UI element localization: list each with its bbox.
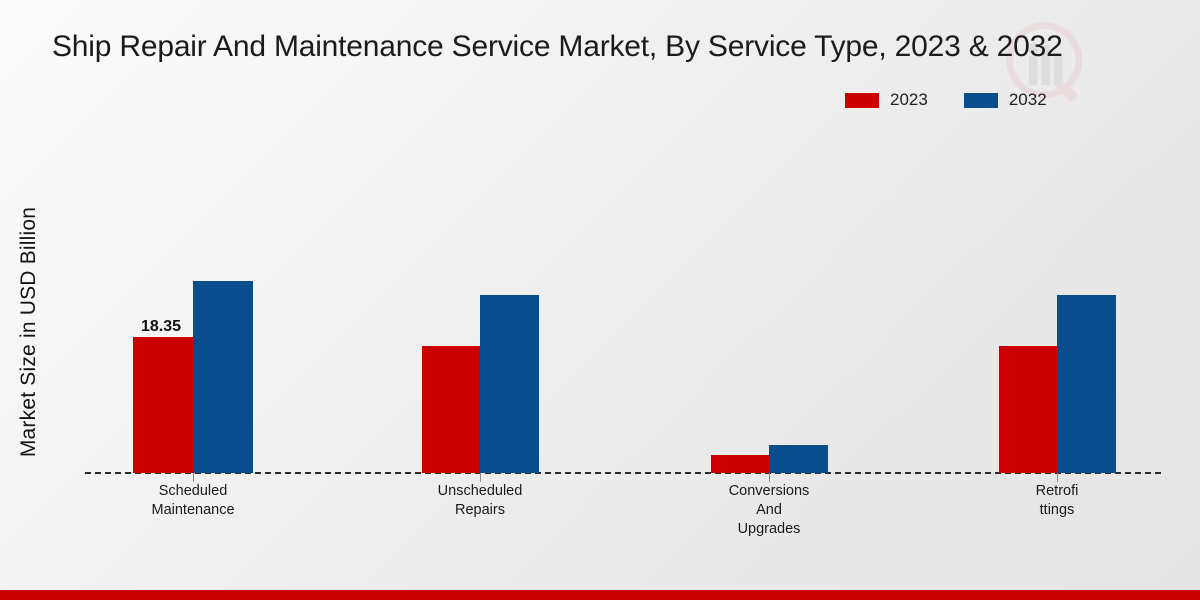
cat-label-line: Retrofi [957,482,1157,501]
cat-label-line: And [669,501,869,520]
cat-label-line: ttings [957,501,1157,520]
x-axis-tick-3 [769,473,770,482]
cat-label-line: Conversions [669,482,869,501]
plot-area: 18.35 Scheduled Maintenance Unscheduled … [0,0,1200,600]
bar-2023-conversions-and-upgrades[interactable] [711,455,769,473]
cat-label-line: Upgrades [669,520,869,539]
x-axis-label-conversions-and-upgrades: Conversions And Upgrades [669,482,869,539]
x-axis-tick-1 [193,473,194,482]
cat-label-line: Unscheduled [380,482,580,501]
bar-2032-conversions-and-upgrades[interactable] [769,445,828,473]
bar-2032-scheduled-maintenance[interactable] [193,281,253,473]
cat-label-line: Scheduled [93,482,293,501]
x-axis-tick-4 [1057,473,1058,482]
bar-2032-unscheduled-repairs[interactable] [480,295,539,473]
bar-value-label-18-35: 18.35 [141,318,181,336]
x-axis-tick-2 [480,473,481,482]
chart-canvas: Ship Repair And Maintenance Service Mark… [0,0,1200,600]
x-axis-label-unscheduled-repairs: Unscheduled Repairs [380,482,580,520]
x-axis-label-retrofittings: Retrofi ttings [957,482,1157,520]
bottom-accent-band [0,590,1200,600]
bar-2023-unscheduled-repairs[interactable] [422,346,480,473]
bar-2023-scheduled-maintenance[interactable] [133,337,193,473]
bar-2032-retrofittings[interactable] [1057,295,1116,473]
bar-2023-retrofittings[interactable] [999,346,1057,473]
cat-label-line: Repairs [380,501,580,520]
cat-label-line: Maintenance [93,501,293,520]
x-axis-label-scheduled-maintenance: Scheduled Maintenance [93,482,293,520]
